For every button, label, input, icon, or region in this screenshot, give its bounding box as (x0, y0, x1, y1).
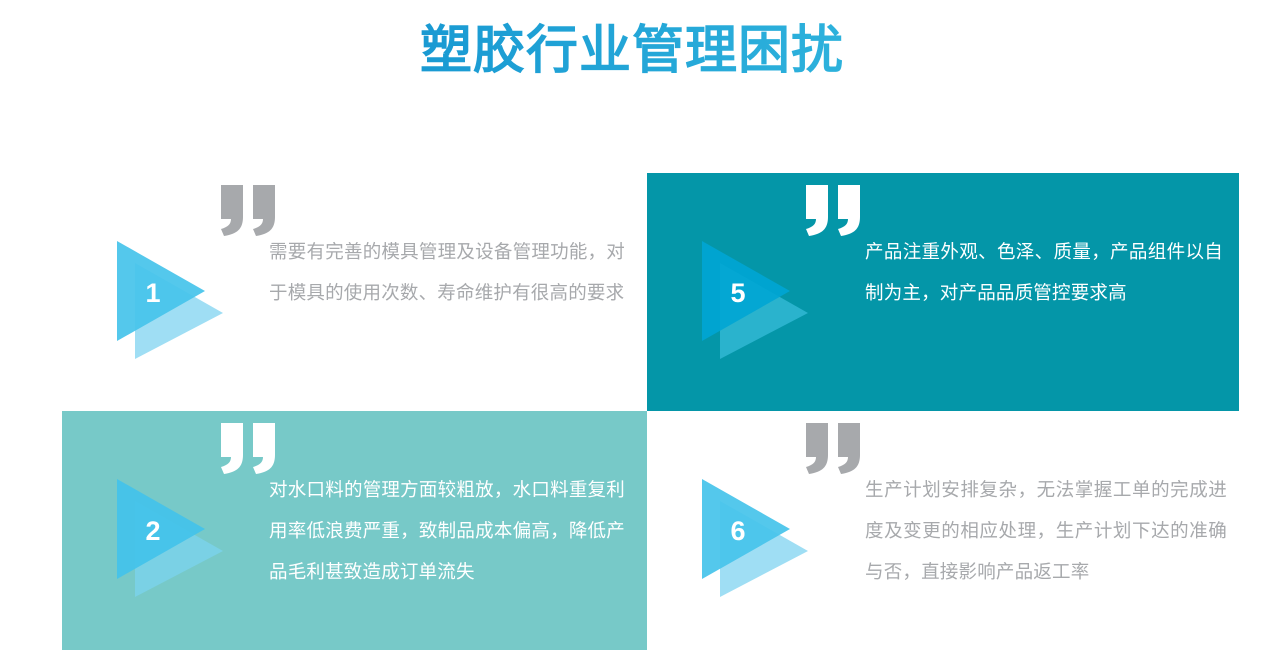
card-body-text: 生产计划安排复杂，无法掌握工单的完成进度及变更的相应处理，生产计划下达的准确与否… (865, 469, 1227, 592)
arrow-badge-5: 5 (702, 241, 808, 359)
card-body-text: 对水口料的管理方面较粗放，水口料重复利用率低浪费严重，致制品成本偏高，降低产品毛… (269, 469, 625, 592)
card-body-text: 需要有完善的模具管理及设备管理功能，对于模具的使用次数、寿命维护有很高的要求 (269, 231, 625, 313)
card-2: 2 对水口料的管理方面较粗放，水口料重复利用率低浪费严重，致制品成本偏高，降低产… (62, 411, 647, 650)
page-title: 塑胶行业管理困扰 (0, 18, 1264, 84)
quote-open-icon (802, 419, 864, 475)
arrow-badge-1: 1 (117, 241, 223, 359)
arrow-badge-6: 6 (702, 479, 808, 597)
arrow-badge-2: 2 (117, 479, 223, 597)
card-1: 1 需要有完善的模具管理及设备管理功能，对于模具的使用次数、寿命维护有很高的要求 (62, 173, 647, 411)
quote-open-icon (217, 419, 279, 475)
card-5: 5 产品注重外观、色泽、质量，产品组件以自制为主，对产品品质管控要求高 (647, 173, 1239, 411)
quote-open-icon (217, 181, 279, 237)
card-6: 6 生产计划安排复杂，无法掌握工单的完成进度及变更的相应处理，生产计划下达的准确… (647, 411, 1239, 650)
quote-open-icon (802, 181, 864, 237)
card-body-text: 产品注重外观、色泽、质量，产品组件以自制为主，对产品品质管控要求高 (865, 231, 1223, 313)
